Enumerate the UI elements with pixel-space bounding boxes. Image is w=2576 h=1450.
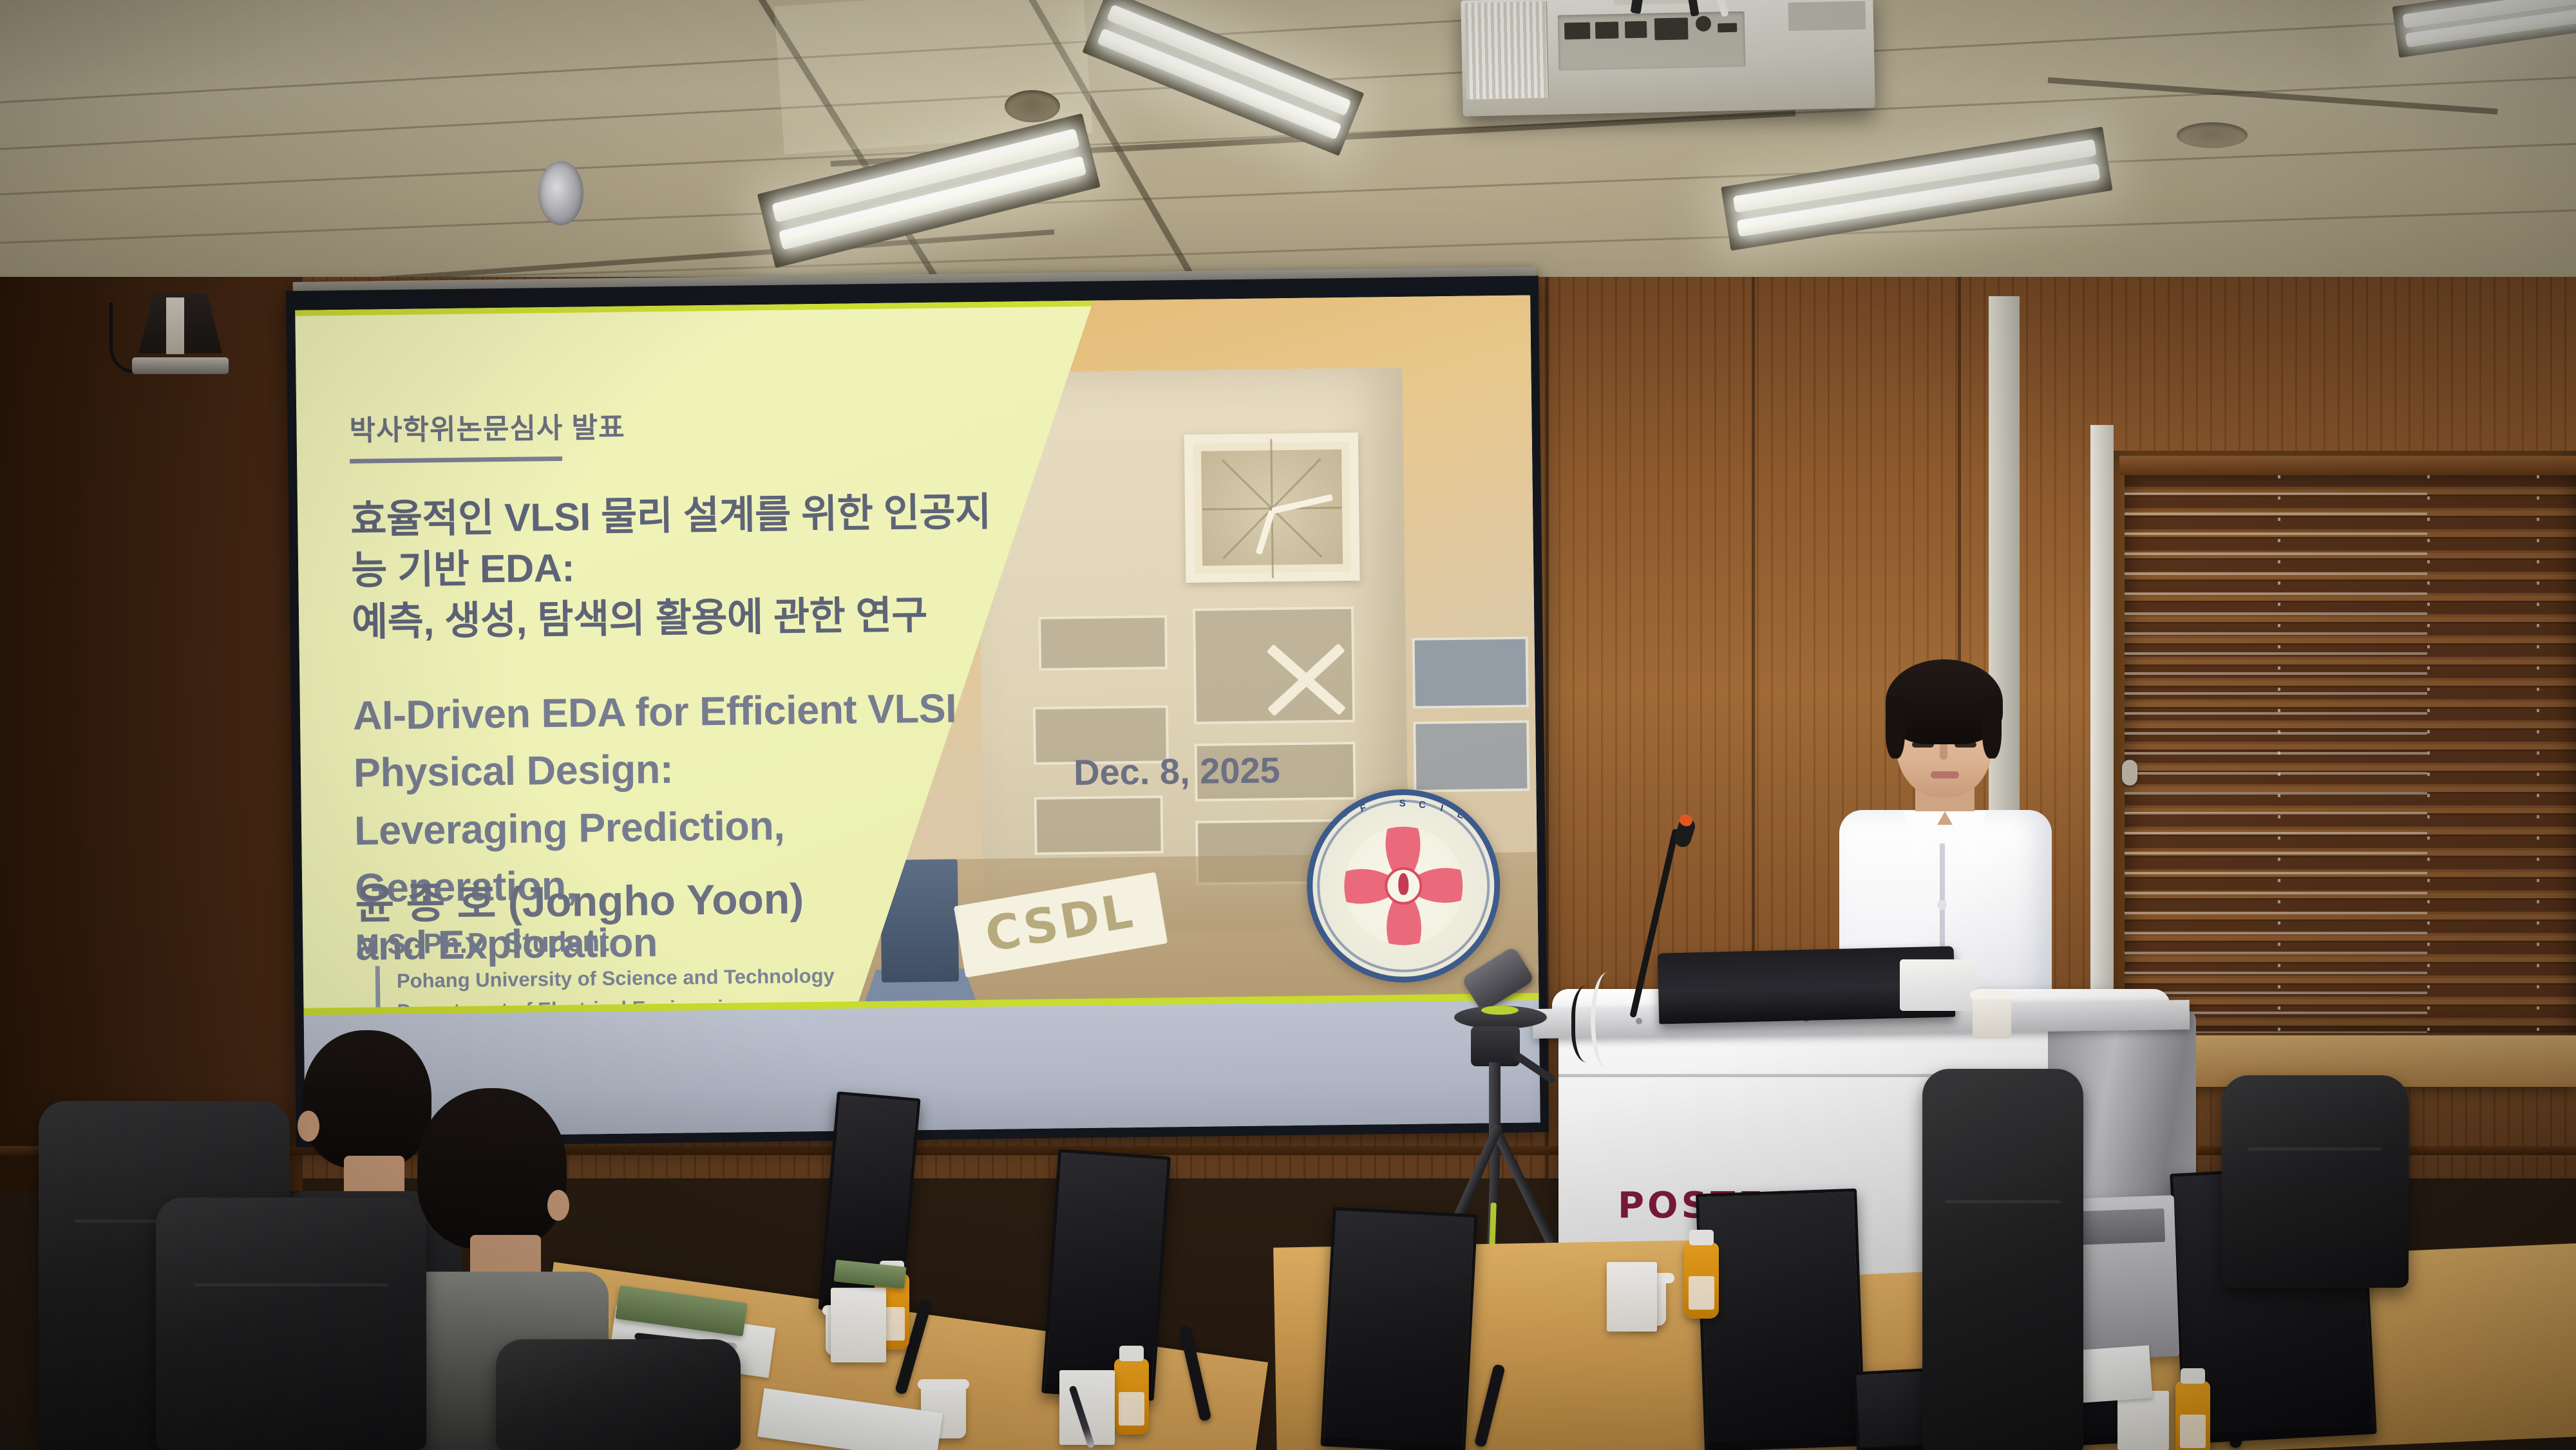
orange-juice-bottle[interactable] — [2175, 1381, 2210, 1450]
projector-vent-grille — [1464, 1, 1549, 100]
slide-author-name: 윤 종 호 (Jongho Yoon) — [355, 864, 804, 932]
orange-juice-bottle[interactable] — [1114, 1359, 1149, 1435]
desk-monitor[interactable] — [1320, 1207, 1477, 1450]
ceiling-light-fixture — [1721, 127, 2112, 251]
ceiling-light-fixture — [2392, 0, 2576, 58]
office-chair[interactable] — [1922, 1069, 2083, 1450]
ceiling — [0, 0, 2576, 303]
postech-seal: POHANG UNIVERSITY OF SCIENCE AND TECHNOL… — [1305, 788, 1501, 984]
slide-kicker-rule — [350, 457, 562, 464]
desk-monitor[interactable] — [1041, 1149, 1171, 1400]
slide-date: Dec. 8, 2025 — [1074, 749, 1280, 793]
en-title-line-1: AI-Driven EDA for Efficient VLSI Physica… — [352, 679, 1010, 802]
window-blinds[interactable] — [2125, 475, 2576, 1033]
ceiling-projector — [1461, 0, 1875, 117]
blinds-tilt-knob[interactable] — [2122, 760, 2137, 786]
ceiling-vent — [1005, 90, 1060, 122]
presentation-slide: CSDL POHANG UNIVERSITY OF SCIENCE AND TE… — [295, 295, 1539, 1015]
slide-kicker: 박사학위논문심사 발표 — [349, 399, 1007, 448]
left-wall-shadowed — [0, 277, 303, 1191]
projection-screen-surface: CSDL POHANG UNIVERSITY OF SCIENCE AND TE… — [295, 295, 1540, 1137]
tissue-paper — [1900, 959, 1977, 1011]
tripod-head[interactable] — [1471, 1026, 1520, 1066]
device-mount-base — [132, 357, 229, 374]
photo-building-x-brace — [1257, 626, 1355, 724]
photo-clock-tower — [1184, 433, 1360, 583]
ceiling-vent — [2177, 122, 2248, 148]
window-recess — [2109, 451, 2576, 1050]
device-label — [166, 297, 184, 354]
tripod-pan-handle[interactable] — [1511, 1050, 1557, 1085]
window-jamb — [2090, 425, 2114, 1069]
ko-title-line-1: 효율적인 VLSI 물리 설계를 위한 인공지능 기반 EDA: — [350, 486, 1009, 596]
orange-juice-bottle[interactable] — [1684, 1243, 1719, 1319]
ko-title-line-2: 예측, 생성, 탐색의 활용에 관한 연구 — [352, 588, 1009, 648]
snack-box[interactable] — [1607, 1262, 1657, 1332]
office-chair[interactable] — [156, 1198, 426, 1450]
projection-screen: CSDL POHANG UNIVERSITY OF SCIENCE AND TE… — [286, 276, 1549, 1147]
conference-room-photo: CSDL POHANG UNIVERSITY OF SCIENCE AND TE… — [0, 0, 2576, 1450]
projector-label — [1788, 1, 1866, 32]
paper-cup[interactable] — [1973, 995, 2011, 1039]
office-chair[interactable] — [2222, 1075, 2409, 1288]
projector-mount — [1614, 0, 1692, 5]
snack-box[interactable] — [831, 1288, 886, 1362]
affiliation-line-1: Pohang University of Science and Technol… — [397, 961, 835, 996]
slide-author-role: M.S.-Ph.D. Student — [355, 926, 609, 961]
podium-control-dial[interactable] — [538, 161, 583, 225]
blinds-headrail — [2119, 456, 2576, 475]
ceiling-light-fixture — [1082, 0, 1364, 156]
slide-korean-title: 효율적인 VLSI 물리 설계를 위한 인공지능 기반 EDA: 예측, 생성,… — [350, 486, 1009, 647]
projector-port-panel — [1558, 12, 1746, 71]
desk-monitor[interactable] — [1696, 1189, 1866, 1450]
office-chair[interactable] — [496, 1339, 741, 1450]
